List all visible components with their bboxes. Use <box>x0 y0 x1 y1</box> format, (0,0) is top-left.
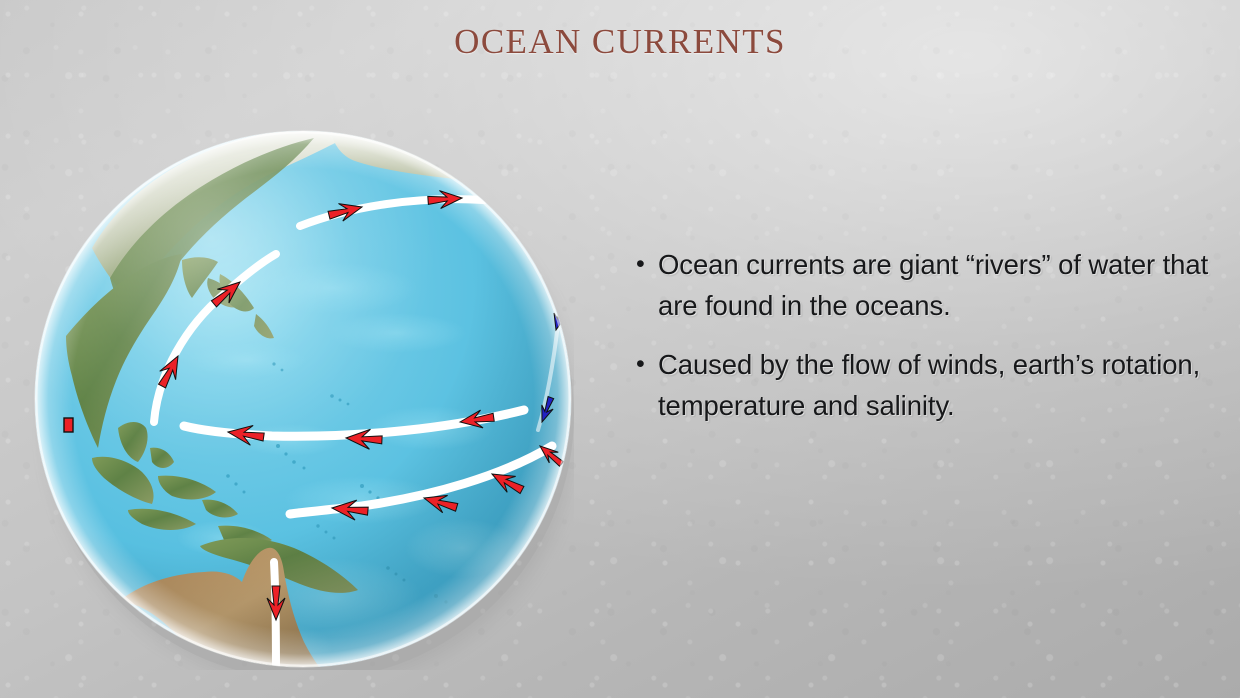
list-item: • Caused by the flow of winds, earth’s r… <box>636 344 1216 426</box>
bullet-marker-icon: • <box>636 244 658 285</box>
slide-canvas: OCEAN CURRENTS <box>0 0 1240 698</box>
bullet-marker-icon: • <box>636 344 658 385</box>
current-marker-indonesia <box>64 418 73 432</box>
page-title: OCEAN CURRENTS <box>0 22 1240 62</box>
globe-limb-glow <box>35 131 571 667</box>
list-item: • Ocean currents are giant “rivers” of w… <box>636 244 1216 326</box>
bullet-text: Ocean currents are giant “rivers” of wat… <box>658 244 1216 326</box>
current-west-australian <box>84 598 108 662</box>
bullet-list: • Ocean currents are giant “rivers” of w… <box>636 244 1216 444</box>
earth-globe-illustration <box>32 128 574 670</box>
bullet-text: Caused by the flow of winds, earth’s rot… <box>658 344 1216 426</box>
